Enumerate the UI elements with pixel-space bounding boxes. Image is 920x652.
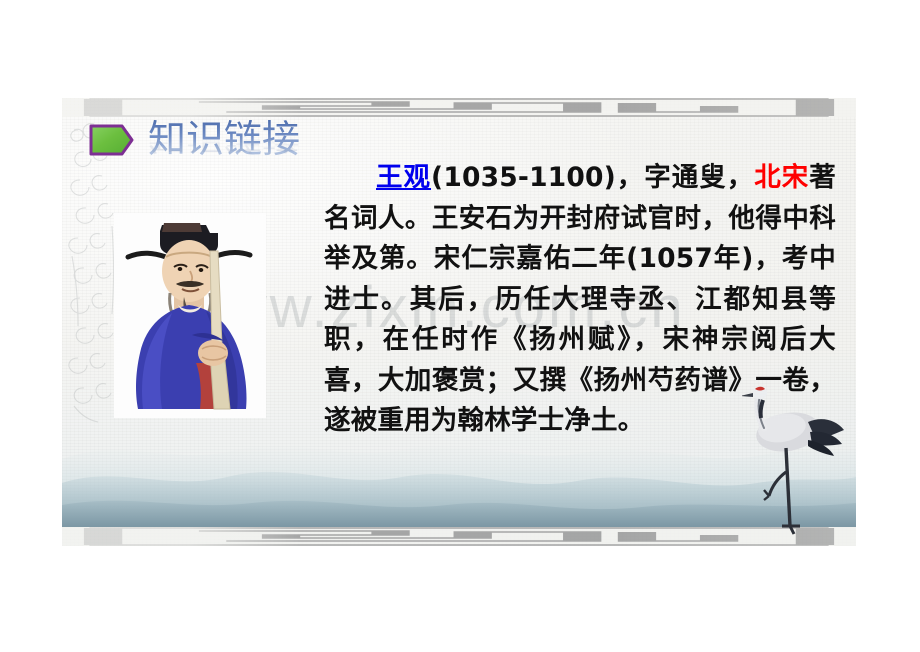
- body-after-name: (1035-1100)，字通叟，: [431, 162, 754, 193]
- greek-key-border-icon-top: [62, 98, 856, 117]
- person-name-link[interactable]: 王观: [376, 162, 431, 193]
- dynasty-highlight: 北宋: [754, 162, 809, 193]
- body-paragraph: 王观(1035-1100)，字通叟，北宋著名词人。王安石为开封府试官时，他得中科…: [324, 158, 836, 442]
- slide-heading: 知识链接: [88, 120, 300, 160]
- arrow-pentagon-icon: [88, 123, 134, 157]
- screenshot-canvas: www.zixin.com.cn 知识链接 知识链接: [0, 0, 920, 652]
- portrait-image: [114, 213, 266, 418]
- greek-key-border-icon-bottom: [62, 527, 856, 546]
- presentation-slide: www.zixin.com.cn 知识链接 知识链接: [62, 98, 856, 546]
- body-rest: 著名词人。王安石为开封府试官时，他得中科举及第。宋仁宗嘉佑二年(1057年)，考…: [324, 162, 836, 436]
- slide-heading-text: 知识链接: [148, 120, 300, 160]
